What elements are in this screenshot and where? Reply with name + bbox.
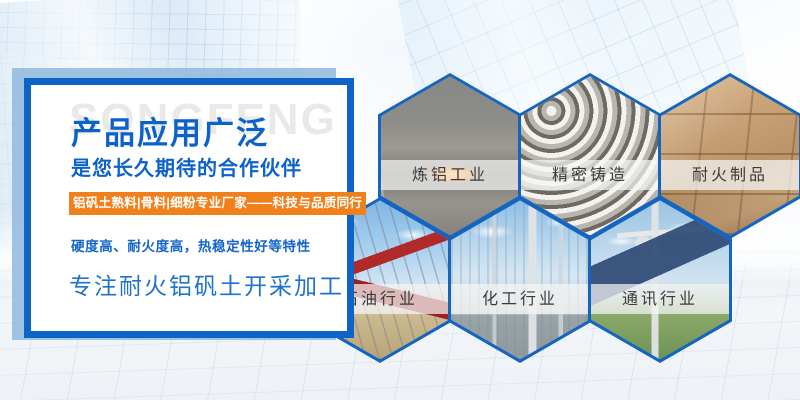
- promotional-banner: 炼铝工业 精密铸造 耐火制品 石油行业 化工行业: [0, 0, 800, 400]
- hexagon-label-casting: 精密铸造: [521, 160, 659, 190]
- hexagon-label-telecom: 通讯行业: [591, 284, 729, 314]
- business-tagline: 专注耐火铝矾土开采加工: [69, 267, 344, 301]
- hexagon-label-refractory: 耐火制品: [661, 160, 799, 190]
- subheadline: 是您长久期待的合作伙伴: [71, 152, 302, 181]
- text-panel-content: SONGFENG 产品应用广泛 是您长久期待的合作伙伴 铝矾土熟料|骨料|细粉专…: [31, 85, 347, 331]
- text-panel: SONGFENG 产品应用广泛 是您长久期待的合作伙伴 铝矾土熟料|骨料|细粉专…: [24, 78, 354, 338]
- hexagon-label-chemical: 化工行业: [451, 284, 589, 314]
- hexagon-label-smelting: 炼铝工业: [381, 160, 519, 190]
- telecom-cross-arm-icon: [617, 227, 705, 238]
- accent-tagline-band: 铝矾土熟料|骨料|细粉专业厂家——科技与品质同行: [69, 192, 366, 215]
- telecom-camera-dome-icon: [635, 236, 651, 250]
- headline: 产品应用广泛: [71, 108, 269, 153]
- product-feature-line: 硬度高、耐火度高，热稳定性好等特性: [71, 235, 311, 255]
